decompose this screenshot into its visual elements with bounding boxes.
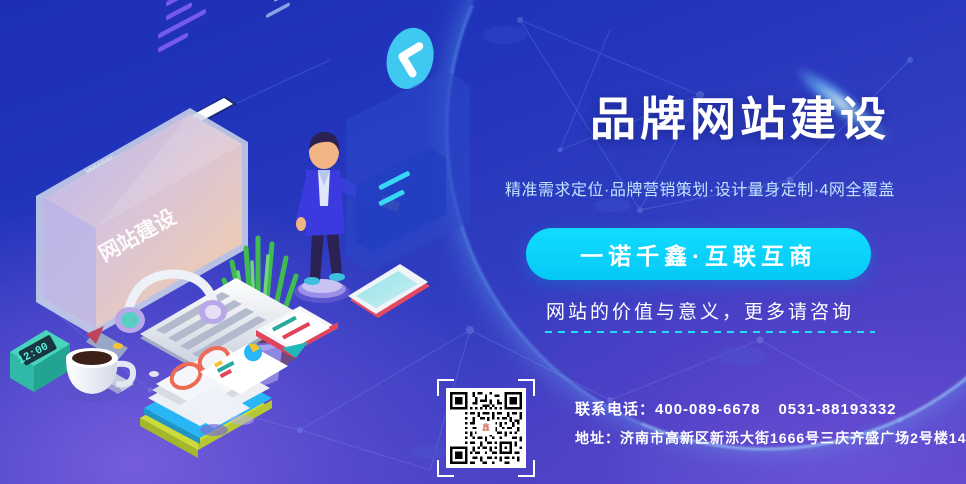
subtitle: 精准需求定位·品牌营销策划·设计量身定制·4网全覆盖: [450, 176, 950, 200]
code-lines: [158, 0, 314, 53]
headline: 品牌网站建设: [530, 96, 950, 142]
address-label: 地址：: [575, 430, 620, 446]
qr-logo-text: 鑫: [482, 424, 490, 432]
phone-secondary[interactable]: 0531-88193332: [778, 401, 896, 418]
phone-line: 联系电话：400-089-66780531-88193332: [575, 398, 966, 419]
slogan-pill-label: 一诺千鑫·互联互商: [580, 237, 817, 271]
marketing-banner: www. 网站建设: [0, 0, 966, 484]
address-value: 济南市高新区新泺大街1666号三庆齐盛广场2号楼1408: [620, 430, 966, 446]
dashed-divider: [545, 331, 875, 333]
contact-info: 联系电话：400-089-66780531-88193332 地址：济南市高新区…: [575, 398, 966, 448]
qr-code-block[interactable]: 鑫: [437, 379, 535, 477]
tagline: 网站的价值与意义，更多请咨询: [500, 297, 900, 324]
desk-illustration: www. 网站建设: [0, 0, 470, 484]
qr-center-logo: 鑫: [477, 421, 496, 435]
qr-code-image[interactable]: 鑫: [446, 388, 526, 468]
address-line: 地址：济南市高新区新泺大街1666号三庆齐盛广场2号楼1408: [575, 428, 966, 448]
coffee-mug: [62, 348, 133, 402]
smartphone: [348, 264, 430, 318]
phone-primary[interactable]: 400-089-6678: [655, 401, 760, 418]
phone-label: 联系电话：: [575, 401, 655, 418]
desk-illustration-svg: www. 网站建设: [0, 0, 470, 484]
slogan-pill-button[interactable]: 一诺千鑫·互联互商: [526, 228, 871, 280]
desk-clock: 12:00: [10, 330, 70, 392]
